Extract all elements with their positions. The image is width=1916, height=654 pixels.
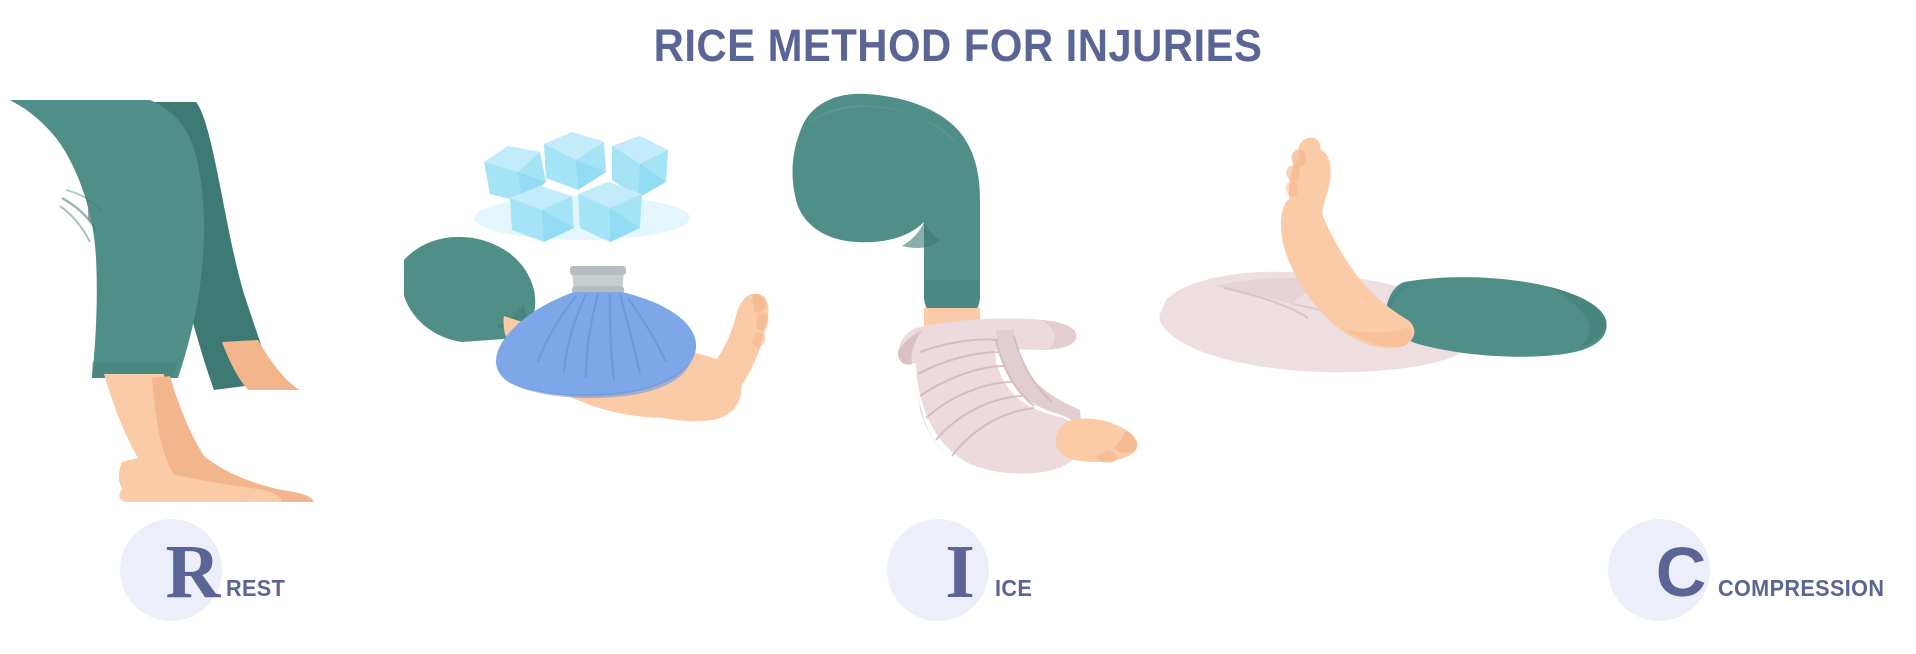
panel-elevate: E ELEVATION xyxy=(1150,90,1629,654)
page-title: RICE METHOD FOR INJURIES xyxy=(67,20,1849,72)
badge-circle-rest: R xyxy=(120,519,222,621)
bent-leg-shorts-shape xyxy=(793,94,980,322)
badge-letter-rest: R xyxy=(166,534,221,610)
rice-method-infographic: RICE METHOD FOR INJURIES xyxy=(0,0,1916,654)
ice-cube-back-mid xyxy=(544,132,606,190)
badge-letter-compression: C xyxy=(1656,537,1707,607)
step-word-rest: REST xyxy=(226,575,285,602)
shorts-shape xyxy=(10,100,204,378)
label-compression: C COMPRESSION xyxy=(1608,515,1895,625)
step-word-compression: COMPRESSION xyxy=(1718,575,1884,602)
bandaged-foot-shape xyxy=(916,328,1138,473)
label-rest: R REST xyxy=(120,515,289,625)
leg-elevated-on-pillow-illustration xyxy=(1150,90,1629,510)
